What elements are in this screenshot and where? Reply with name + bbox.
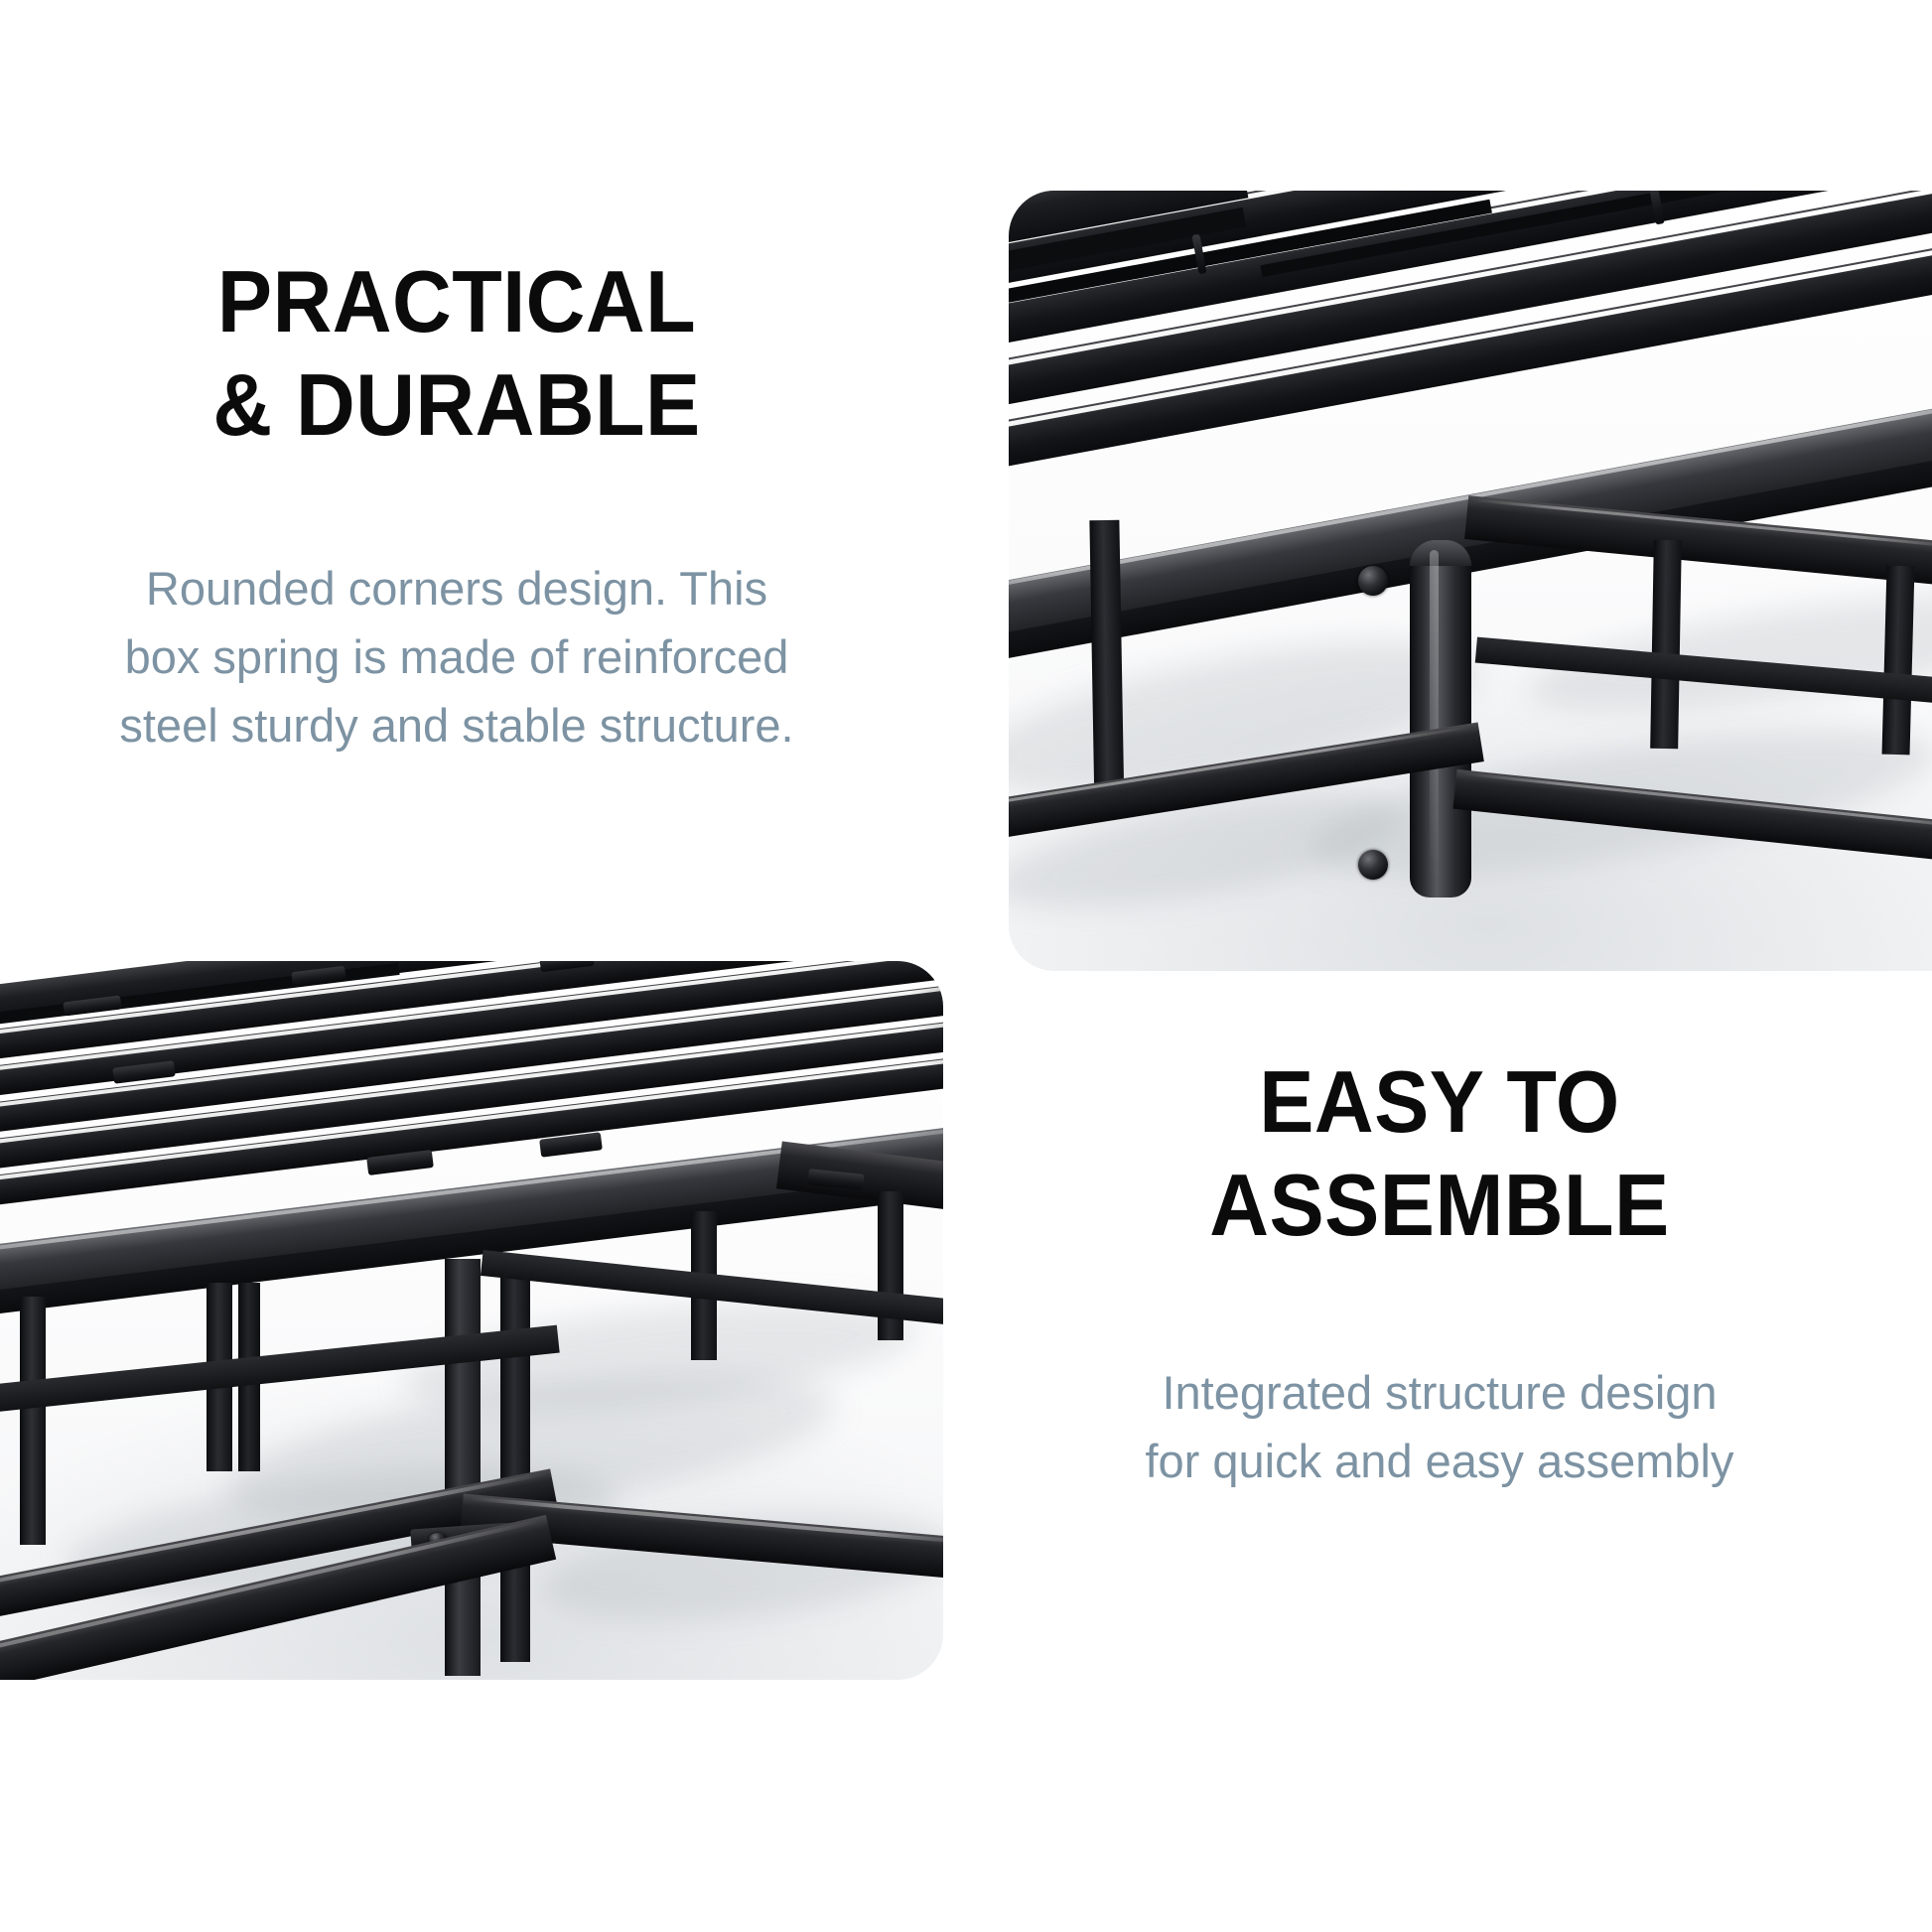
headline-easy-to-assemble: EASY TO ASSEMBLE [1038, 1050, 1841, 1257]
headline-line-1: EASY TO [1038, 1050, 1841, 1154]
corner-bolt [1358, 566, 1388, 596]
headline-line-2: & DURABLE [83, 353, 830, 457]
body-line-1: Integrated structure design [1013, 1358, 1866, 1427]
frame-leg [20, 1297, 46, 1545]
product-photo-corner-closeup [1009, 191, 1932, 971]
frame-leg [1650, 540, 1682, 749]
body-text-practical-durable: Rounded corners design. This box spring … [60, 554, 854, 759]
frame-center-leg [500, 1265, 530, 1662]
frame-leg [1089, 520, 1124, 818]
frame-leg [1882, 566, 1915, 756]
headline-practical-durable: PRACTICAL & DURABLE [83, 250, 830, 457]
body-line-1: Rounded corners design. This [60, 554, 854, 622]
body-line-3: steel sturdy and stable structure. [60, 691, 854, 759]
corner-bolt [1358, 850, 1388, 880]
body-text-easy-to-assemble: Integrated structure design for quick an… [1013, 1358, 1866, 1495]
headline-line-2: ASSEMBLE [1038, 1154, 1841, 1257]
feature-block-practical-durable: PRACTICAL & DURABLE Rounded corners desi… [60, 250, 854, 759]
body-line-2: for quick and easy assembly [1013, 1427, 1866, 1495]
post-highlight [1430, 550, 1439, 884]
frame-center-leg [445, 1259, 481, 1676]
product-infographic: PRACTICAL & DURABLE Rounded corners desi… [0, 0, 1932, 1932]
headline-line-1: PRACTICAL [83, 250, 830, 353]
body-line-2: box spring is made of reinforced [60, 622, 854, 691]
feature-block-easy-to-assemble: EASY TO ASSEMBLE Integrated structure de… [1013, 1050, 1866, 1495]
product-photo-assembly-view [0, 961, 943, 1680]
rounded-corner-post [1410, 540, 1471, 897]
